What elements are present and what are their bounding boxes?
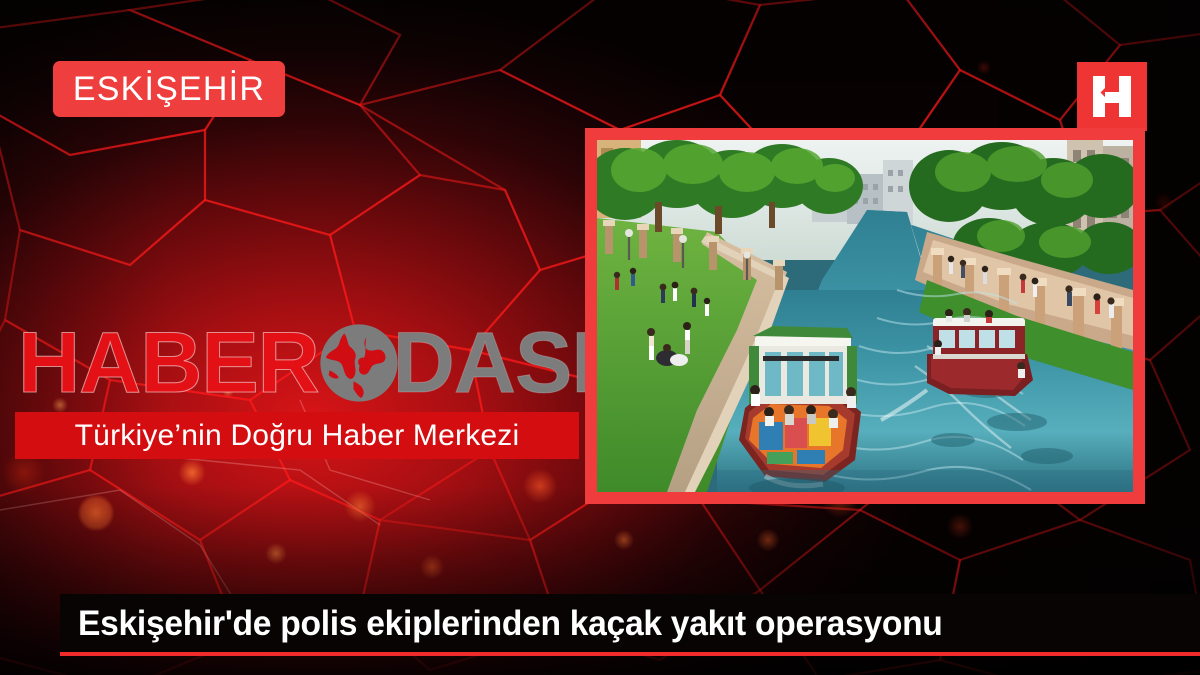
brand-logo-dasi: DASI <box>393 320 594 406</box>
city-badge: ESKİŞEHİR <box>53 61 285 117</box>
tagline-bar: Türkiye’nin Doğru Haber Merkezi <box>15 412 579 459</box>
headline-bar: Eskişehir'de polis ekiplerinden kaçak ya… <box>60 594 1200 656</box>
brand-logo-haber: HABER <box>18 320 319 406</box>
globe-glyph <box>313 317 405 409</box>
news-card: ESKİŞEHİR HABER <box>0 0 1200 675</box>
brand-logo: HABER DASI <box>18 314 578 412</box>
headline-text: Eskişehir'de polis ekiplerinden kaçak ya… <box>78 606 943 641</box>
globe-icon <box>313 317 405 409</box>
news-photo <box>597 140 1133 492</box>
photo-illustration <box>597 140 1133 492</box>
city-badge-label: ESKİŞEHİR <box>73 72 265 106</box>
h-letter-glyph <box>1077 62 1147 131</box>
photo-card <box>585 128 1145 504</box>
tagline-text: Türkiye’nin Doğru Haber Merkezi <box>75 421 520 451</box>
h-monogram-icon <box>1077 62 1147 131</box>
